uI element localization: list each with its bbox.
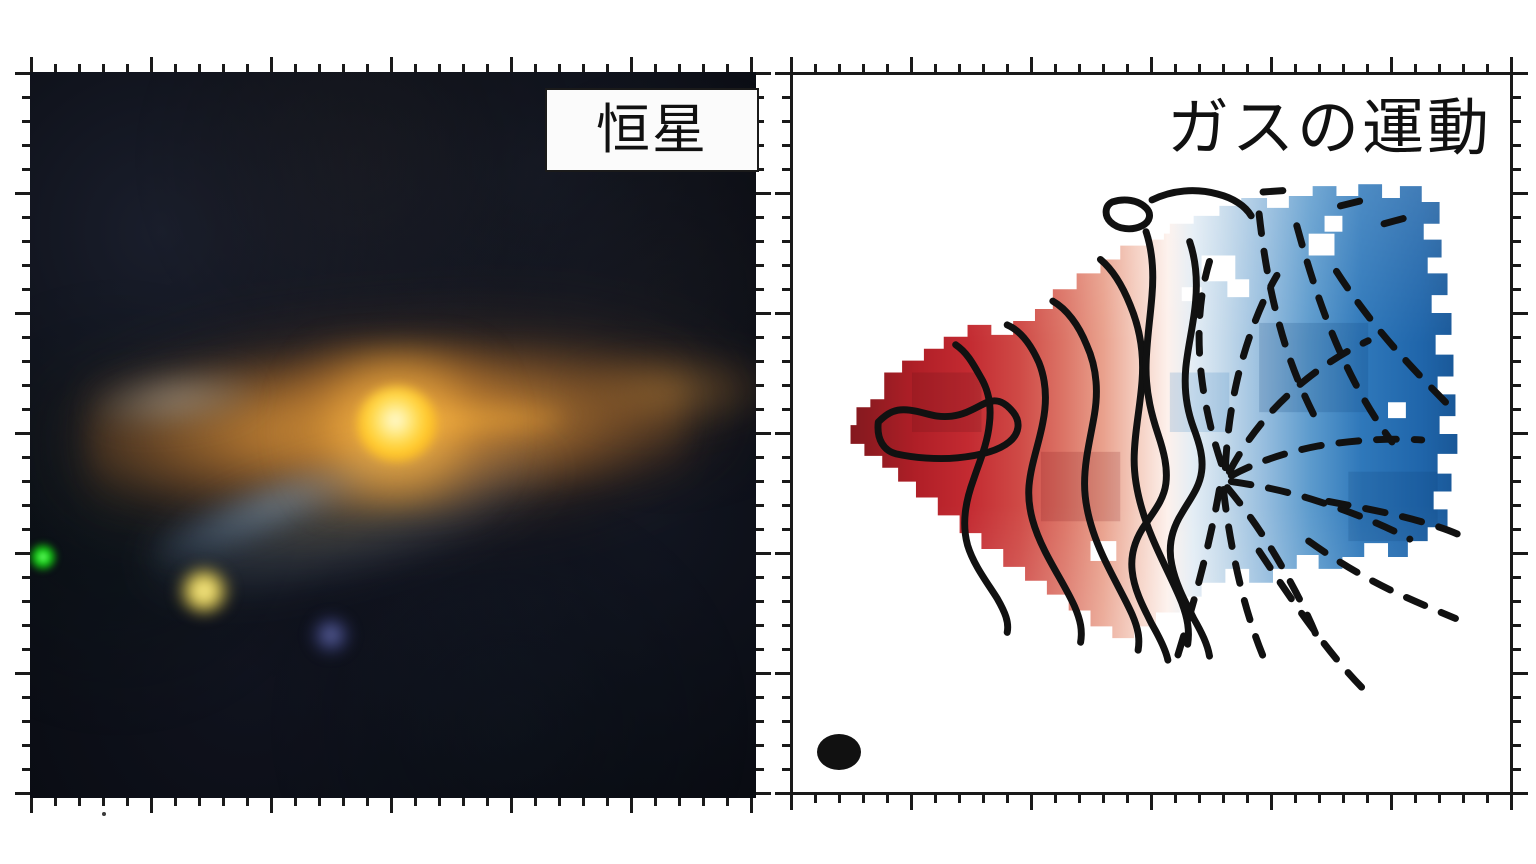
stars-axis-top-ticks xyxy=(30,57,756,72)
stars-axis-left-ticks xyxy=(15,72,30,798)
galaxy-nucleus xyxy=(358,387,436,461)
stars-axis-bottom-ticks xyxy=(30,798,756,813)
stars-axis-marker-dot xyxy=(102,812,106,816)
panel-stars-label: 恒星 xyxy=(545,88,759,172)
panel-gas-title: ガスの運動 xyxy=(1167,97,1492,159)
gas-axis-right-ticks xyxy=(1513,72,1528,795)
stars-axis-right-ticks xyxy=(756,72,771,798)
source-blue xyxy=(310,615,352,655)
figure-root: 恒星 xyxy=(0,0,1536,864)
velocity-field-map xyxy=(793,75,1510,792)
panel-stars xyxy=(30,72,756,798)
gas-axis-left-ticks xyxy=(775,72,790,795)
source-yellow xyxy=(175,565,233,617)
gas-axis-top-ticks xyxy=(790,57,1513,72)
gas-axis-bottom-ticks xyxy=(790,795,1513,810)
galaxy-arm-right xyxy=(568,350,756,433)
synthesized-beam-ellipse xyxy=(817,734,861,770)
panel-gas: ガスの運動 xyxy=(790,72,1513,795)
